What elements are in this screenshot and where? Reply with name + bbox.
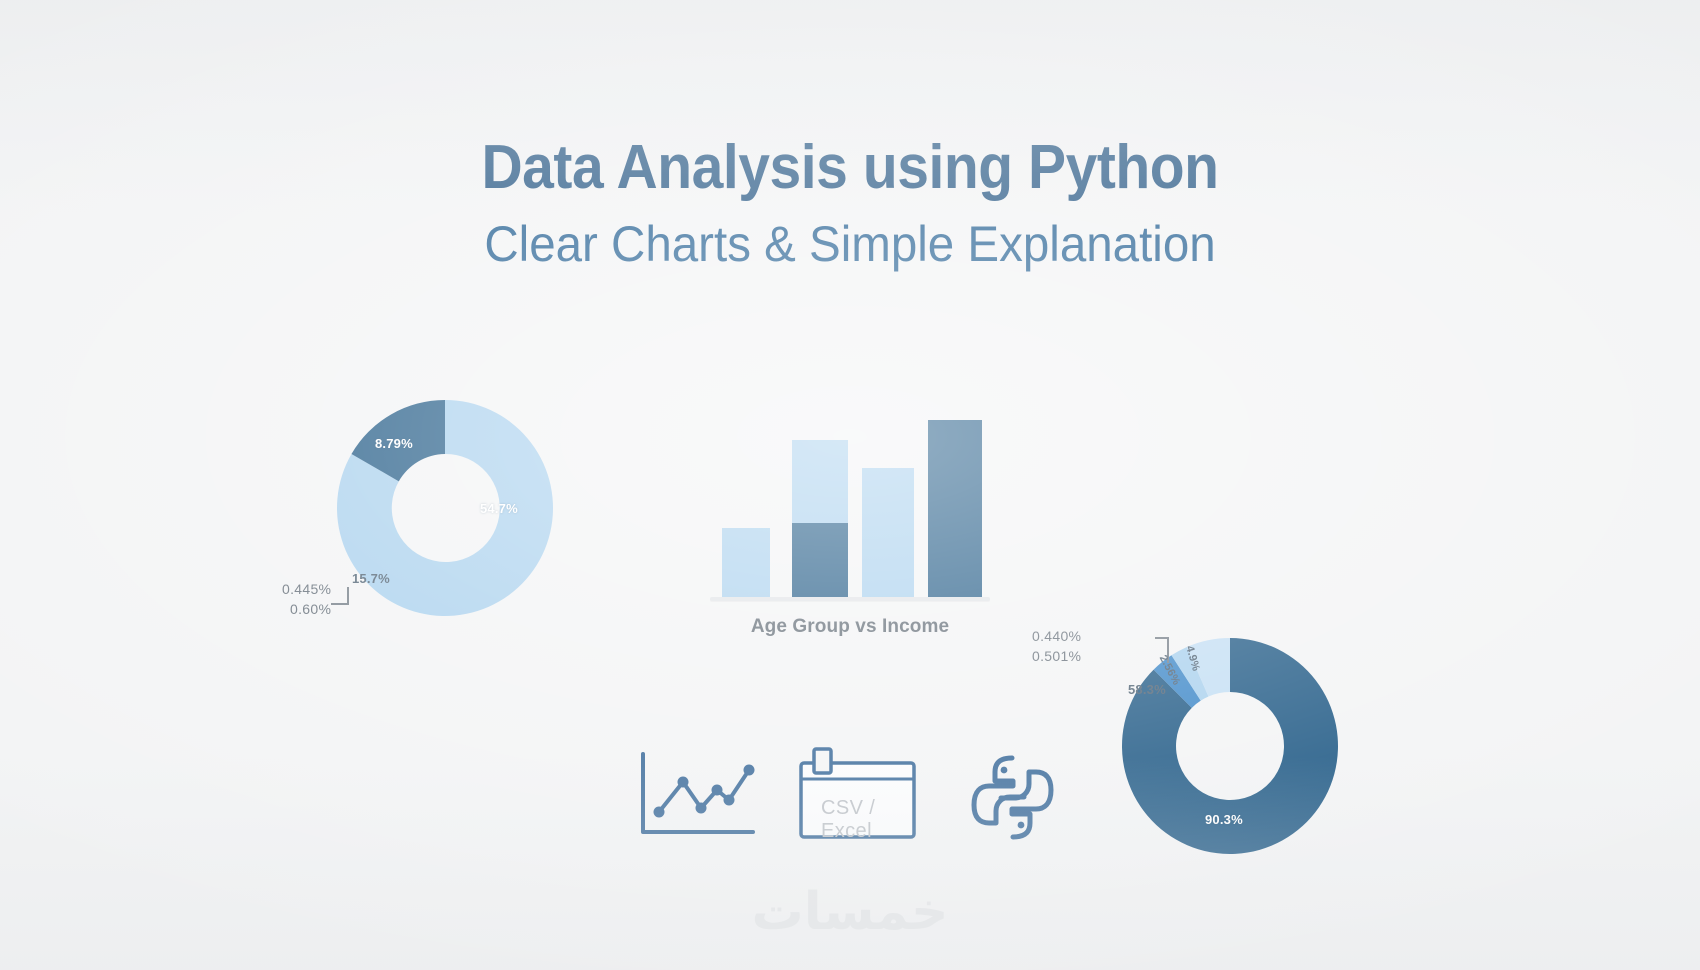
charts-row: 8.79% 54.7% 15.7% 0.445% 0.60% [0,378,1700,678]
spreadsheet-icon-label: CSV / Excel [821,797,920,843]
outside-label-left-2: 0.60% [290,601,331,617]
bar-segment-3-light [862,468,914,598]
title-block: Data Analysis using Python Clear Charts … [0,135,1700,274]
line-chart-icon-svg [635,750,760,845]
bar-group-1 [722,378,770,598]
bar-segment-2-dark [792,523,848,598]
outside-label-right-1: 0.440% [1032,628,1081,644]
slice-label-left-3: 15.7% [352,571,390,586]
bar-chart-caption: Age Group vs Income [700,616,1000,638]
slice-label-left-1: 8.79% [375,436,413,451]
slice-label-left-2: 54.7% [480,501,518,516]
slide-canvas: Data Analysis using Python Clear Charts … [0,0,1700,970]
bar-chart-x-axis [710,597,990,601]
python-logo-icon [965,750,1060,845]
outside-label-left-1: 0.445% [282,581,331,597]
spreadsheet-icon: CSV / Excel [795,745,920,845]
bar-group-3 [862,378,914,598]
bar-segment-2-light [792,440,848,524]
bar-plot-area [700,378,1000,598]
bar-group-2 [792,378,848,598]
bar-group-4 [928,378,982,598]
slice-label-right-2: 58.3% [1128,682,1166,697]
python-logo-icon-svg [965,750,1060,845]
bar-segment-1-light [722,528,770,598]
page-title: Data Analysis using Python [68,135,1632,200]
icons-row: CSV / Excel [0,740,1700,870]
bar-chart-center: Age Group vs Income [700,378,1000,648]
watermark: خمسات [0,882,1700,942]
bar-segment-4-dark [928,420,982,598]
page-subtitle: Clear Charts & Simple Explanation [43,216,1658,274]
outside-label-right-2: 0.501% [1032,648,1081,664]
donut-chart-left: 8.79% 54.7% 15.7% 0.445% 0.60% [325,388,565,628]
line-chart-icon [635,750,760,845]
